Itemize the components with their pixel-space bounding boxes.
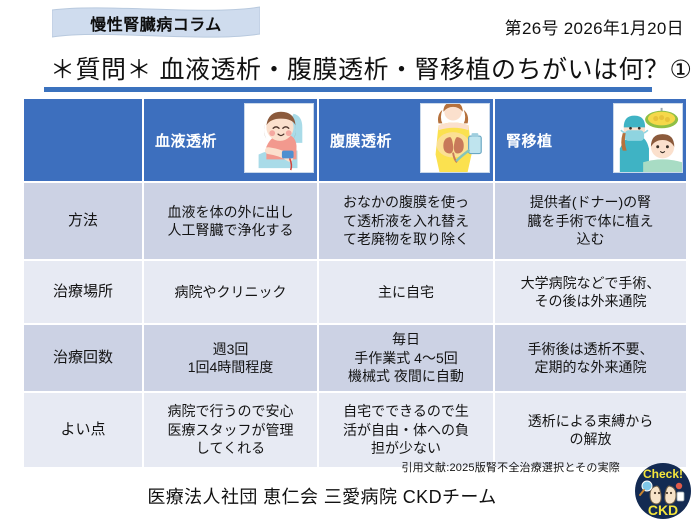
header-label-hemodialysis: 血液透析 [155, 130, 217, 151]
cell-lines-wrap: 手術後は透析不要、 定期的な外来通院 [498, 340, 683, 377]
table-row: 治療回数 週3回 1回4時間程度 毎日 手作業式 4～5回 機械式 夜間に自動 [24, 325, 686, 391]
cell-line: 担が少ない [322, 439, 490, 457]
cell-place-peritoneal: 主に自宅 [319, 261, 493, 323]
cell-line: 込む [498, 230, 683, 248]
table-header-row: 血液透析 [24, 99, 686, 181]
cell-benefit-transplant: 透析による束縛から の解放 [495, 393, 686, 467]
cell-place-hemodialysis: 病院やクリニック [144, 261, 317, 323]
cell-line: 手作業式 4～5回 [322, 349, 490, 367]
header-cell-blank [24, 99, 142, 181]
row-label-benefit: よい点 [24, 393, 142, 467]
header-cell-peritoneal-dialysis: 腹膜透析 [319, 99, 493, 181]
table-row: 治療場所 病院やクリニック 主に自宅 大学病院などで手術、 その後は外来通院 [24, 261, 686, 323]
table-header: 血液透析 [24, 99, 686, 181]
cell-line: 手術後は透析不要、 [498, 340, 683, 358]
cell-line: 医療スタッフが管理 [147, 421, 314, 439]
cell-line: 病院で行うので安心 [147, 402, 314, 420]
cell-line: 毎日 [322, 330, 490, 348]
cell-line: の解放 [498, 430, 683, 448]
title-block: ＊質問＊ 血液透析・腹膜透析・腎移植のちがいは何？① [0, 50, 700, 96]
cell-lines-wrap: 血液を体の外に出し 人工腎臓で浄化する [147, 203, 314, 240]
header-label-peritoneal-dialysis: 腹膜透析 [330, 130, 392, 151]
ribbon-label: 慢性腎臓病コラム [90, 11, 222, 35]
table-row: 方法 血液を体の外に出し 人工腎臓で浄化する おなかの腹膜を使っ て透析液を入れ… [24, 183, 686, 259]
cell-line: 透析による束縛から [498, 412, 683, 430]
cell-lines-wrap: 病院やクリニック [147, 283, 314, 301]
page-title: ＊質問＊ 血液透析・腹膜透析・腎移植のちがいは何？① [50, 50, 692, 86]
cell-line: 臓を手術で体に植え [498, 212, 683, 230]
cell-place-transplant: 大学病院などで手術、 その後は外来通院 [495, 261, 686, 323]
cell-line: 大学病院などで手術、 [498, 274, 683, 292]
cell-line: その後は外来通院 [498, 292, 683, 310]
surgery-operation-icon [613, 103, 683, 173]
logo-top-text: Check! [643, 467, 683, 481]
cell-lines-wrap: 主に自宅 [322, 283, 490, 301]
cell-line: て老廃物を取り除く [322, 230, 490, 248]
table-body: 方法 血液を体の外に出し 人工腎臓で浄化する おなかの腹膜を使っ て透析液を入れ… [24, 183, 686, 467]
page-header: 慢性腎臓病コラム 第26号 2026年1月20日 [0, 0, 700, 48]
cell-line: してくれる [147, 439, 314, 457]
check-ckd-logo: Check! CKD [634, 462, 692, 520]
issue-date: 第26号 2026年1月20日 [505, 14, 684, 39]
cell-lines-wrap: 提供者(ドナー)の腎 臓を手術で体に植え 込む [498, 193, 683, 248]
abdomen-kidney-bag-icon [420, 103, 490, 173]
column-ribbon-banner: 慢性腎臓病コラム [52, 6, 260, 40]
cell-line: て透析液を入れ替え [322, 212, 490, 230]
cell-line: 提供者(ドナー)の腎 [498, 193, 683, 211]
table-row: よい点 病院で行うので安心 医療スタッフが管理 してくれる 自宅でできるので生 … [24, 393, 686, 467]
title-underline-rule [44, 87, 652, 92]
cell-lines-wrap: 透析による束縛から の解放 [498, 412, 683, 449]
cell-frequency-peritoneal: 毎日 手作業式 4～5回 機械式 夜間に自動 [319, 325, 493, 391]
cell-line: 病院やクリニック [147, 283, 314, 301]
cell-line: 人工腎臓で浄化する [147, 221, 314, 239]
cell-frequency-transplant: 手術後は透析不要、 定期的な外来通院 [495, 325, 686, 391]
header-label-kidney-transplant: 腎移植 [506, 130, 553, 151]
row-label-place: 治療場所 [24, 261, 142, 323]
row-label-frequency: 治療回数 [24, 325, 142, 391]
citation-text: 引用文献:2025版腎不全治療選択とその実際 [401, 459, 620, 475]
cell-lines-wrap: 自宅でできるので生 活が自由・体への負 担が少ない [322, 402, 490, 457]
comparison-table: 血液透析 [22, 97, 688, 469]
cell-method-peritoneal: おなかの腹膜を使っ て透析液を入れ替え て老廃物を取り除く [319, 183, 493, 259]
header-cell-kidney-transplant: 腎移植 [495, 99, 686, 181]
cell-line: 血液を体の外に出し [147, 203, 314, 221]
cell-lines-wrap: 大学病院などで手術、 その後は外来通院 [498, 274, 683, 311]
dialysis-chair-icon [244, 103, 314, 173]
cell-line: おなかの腹膜を使っ [322, 193, 490, 211]
logo-bottom-text: CKD [648, 502, 678, 518]
cell-method-transplant: 提供者(ドナー)の腎 臓を手術で体に植え 込む [495, 183, 686, 259]
cell-lines-wrap: 病院で行うので安心 医療スタッフが管理 してくれる [147, 402, 314, 457]
cell-line: 週3回 [147, 340, 314, 358]
cell-line: 定期的な外来通院 [498, 358, 683, 376]
header-cell-hemodialysis: 血液透析 [144, 99, 317, 181]
cell-lines-wrap: 週3回 1回4時間程度 [147, 340, 314, 377]
cell-method-hemodialysis: 血液を体の外に出し 人工腎臓で浄化する [144, 183, 317, 259]
row-label-method: 方法 [24, 183, 142, 259]
cell-line: 活が自由・体への負 [322, 421, 490, 439]
cell-line: 主に自宅 [322, 283, 490, 301]
cell-frequency-hemodialysis: 週3回 1回4時間程度 [144, 325, 317, 391]
cell-line: 機械式 夜間に自動 [322, 367, 490, 385]
cell-lines-wrap: おなかの腹膜を使っ て透析液を入れ替え て老廃物を取り除く [322, 193, 490, 248]
cell-line: 自宅でできるので生 [322, 402, 490, 420]
organization-line: 医療法人社団 恵仁会 三愛病院 CKDチーム [0, 483, 700, 509]
cell-benefit-peritoneal: 自宅でできるので生 活が自由・体への負 担が少ない [319, 393, 493, 467]
cell-lines-wrap: 毎日 手作業式 4～5回 機械式 夜間に自動 [322, 330, 490, 385]
cell-line: 1回4時間程度 [147, 358, 314, 376]
cell-benefit-hemodialysis: 病院で行うので安心 医療スタッフが管理 してくれる [144, 393, 317, 467]
comparison-table-wrap: 血液透析 [22, 97, 680, 469]
